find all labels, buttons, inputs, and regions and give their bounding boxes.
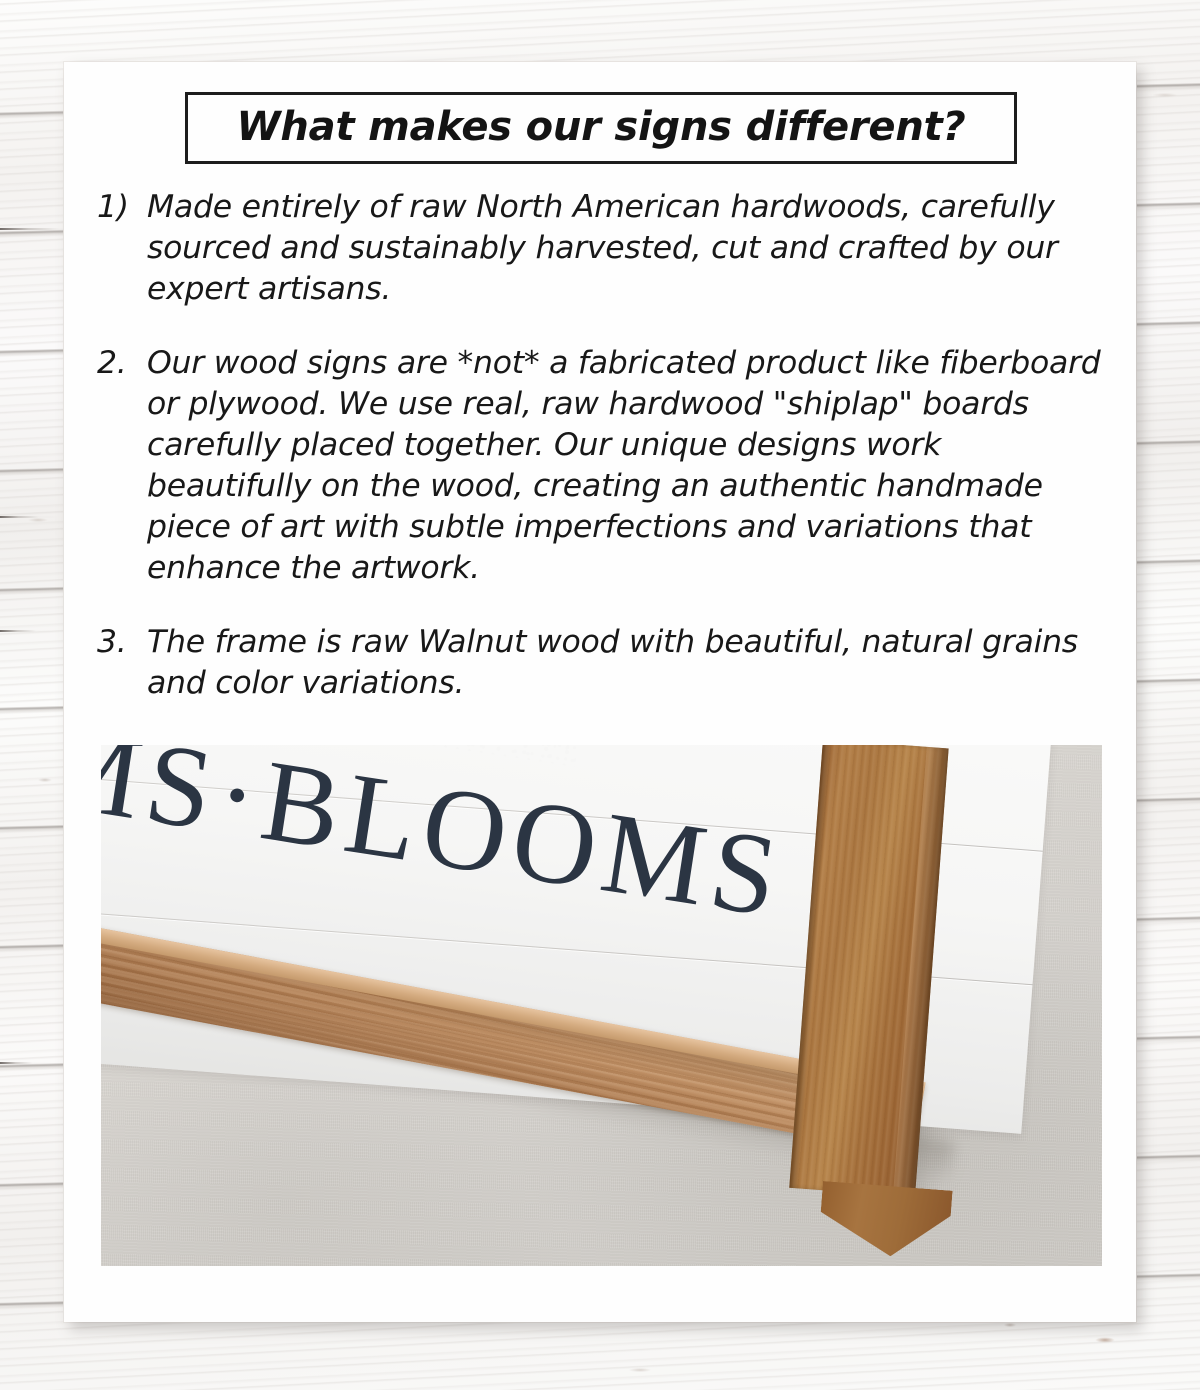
- list-item-marker: 3.: [97, 622, 127, 663]
- features-list: 1) Made entirely of raw North American h…: [97, 187, 1107, 704]
- page-title: What makes our signs different?: [236, 107, 965, 147]
- list-item-text: The frame is raw Walnut wood with beauti…: [147, 622, 1107, 704]
- plank-seam: [0, 516, 62, 518]
- plank-seam: [0, 630, 58, 632]
- content-card: What makes our signs different? 1) Made …: [64, 62, 1136, 1322]
- page-root: What makes our signs different? 1) Made …: [0, 0, 1200, 1390]
- title-box: What makes our signs different?: [185, 92, 1017, 164]
- list-item: 2. Our wood signs are *not* a fabricated…: [97, 343, 1107, 589]
- list-item-marker: 2.: [97, 343, 127, 384]
- sign-wordmark: STEMS·BLOOMS: [101, 745, 930, 958]
- list-item: 1) Made entirely of raw North American h…: [97, 187, 1107, 310]
- list-item-text: Made entirely of raw North American hard…: [147, 187, 1107, 310]
- plank-seam: [0, 1062, 52, 1064]
- product-photo: STEMS·BLOOMS: [101, 745, 1102, 1266]
- list-item: 3. The frame is raw Walnut wood with bea…: [97, 622, 1107, 704]
- list-item-marker: 1): [97, 187, 129, 228]
- walnut-frame-mitre-joint: [818, 1181, 953, 1261]
- list-item-text: Our wood signs are *not* a fabricated pr…: [147, 343, 1107, 589]
